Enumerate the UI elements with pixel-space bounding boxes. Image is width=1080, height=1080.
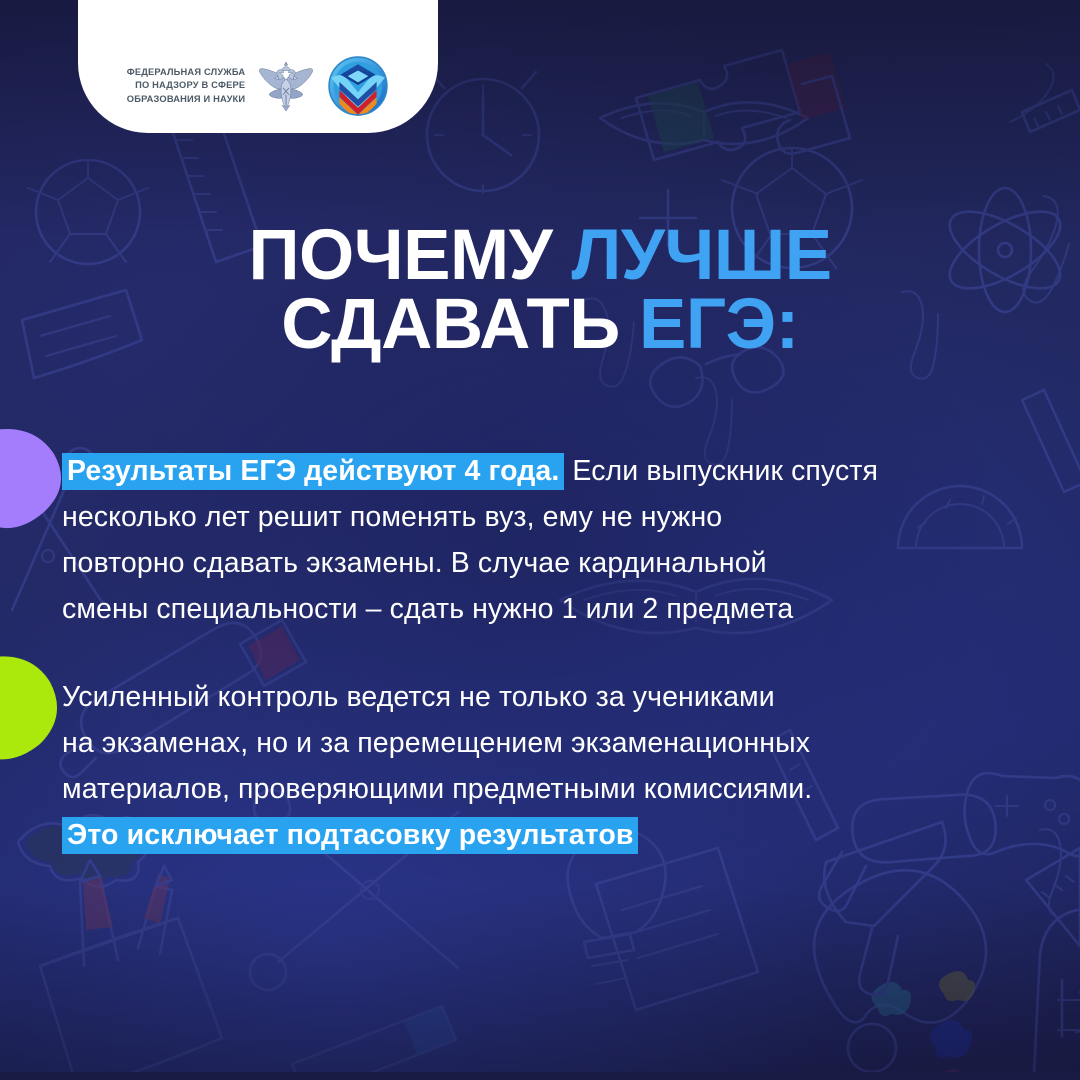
paragraph-2-line-3: материалов, проверяющими предметными ком…: [62, 766, 1022, 812]
paragraph-2-line-2: на экзаменах, но и за перемещением экзам…: [62, 720, 1022, 766]
paragraph-1-line-3: повторно сдавать экзамены. В случае кард…: [62, 540, 1022, 586]
title-word-white-1: ПОЧЕМУ: [248, 216, 571, 295]
title-word-accent-1: ЛУЧШЕ: [571, 216, 831, 295]
graduation-book-emblem: [327, 55, 389, 117]
page-title: ПОЧЕМУ ЛУЧШЕ СДАВАТЬ ЕГЭ:: [0, 222, 1080, 360]
paragraph-1-line-1: Результаты ЕГЭ действуют 4 года. Если вы…: [62, 448, 1022, 494]
paragraph-2-highlight: Это исключает подтасовку результатов: [62, 817, 638, 854]
double-headed-eagle-emblem: [257, 60, 315, 112]
title-line-2: СДАВАТЬ ЕГЭ:: [0, 291, 1080, 360]
paragraph-1-line-1-rest: Если выпускник спустя: [564, 455, 878, 487]
purple-blob-marker: [0, 424, 68, 536]
paragraph-1-highlight: Результаты ЕГЭ действуют 4 года.: [62, 453, 564, 490]
title-word-white-2: СДАВАТЬ: [281, 285, 639, 364]
poster-canvas: ФЕДЕРАЛЬНАЯ СЛУЖБА ПО НАДЗОРУ В СФЕРЕ ОБ…: [0, 0, 1080, 1080]
org-line-2: ПО НАДЗОРУ В СФЕРЕ: [127, 79, 246, 92]
paragraph-2-line-4: Это исключает подтасовку результатов: [62, 812, 1022, 858]
paragraph-1: Результаты ЕГЭ действуют 4 года. Если вы…: [62, 448, 1022, 632]
title-word-accent-2: ЕГЭ:: [639, 285, 799, 364]
green-blob-marker: [0, 652, 64, 766]
paragraph-2-line-1: Усиленный контроль ведется не только за …: [62, 674, 1022, 720]
paragraph-2: Усиленный контроль ведется не только за …: [62, 674, 1022, 858]
body-content: Результаты ЕГЭ действуют 4 года. Если вы…: [62, 448, 1022, 858]
org-line-3: ОБРАЗОВАНИЯ И НАУКИ: [127, 93, 246, 106]
title-line-1: ПОЧЕМУ ЛУЧШЕ: [0, 222, 1080, 291]
header-logo-plate: ФЕДЕРАЛЬНАЯ СЛУЖБА ПО НАДЗОРУ В СФЕРЕ ОБ…: [78, 0, 438, 133]
paragraph-1-line-4: смены специальности – сдать нужно 1 или …: [62, 586, 1022, 632]
org-line-1: ФЕДЕРАЛЬНАЯ СЛУЖБА: [127, 66, 246, 79]
paragraph-1-line-2: несколько лет решит поменять вуз, ему не…: [62, 494, 1022, 540]
organization-name: ФЕДЕРАЛЬНАЯ СЛУЖБА ПО НАДЗОРУ В СФЕРЕ ОБ…: [127, 66, 246, 106]
bottom-edge-strip: [0, 1072, 1080, 1080]
